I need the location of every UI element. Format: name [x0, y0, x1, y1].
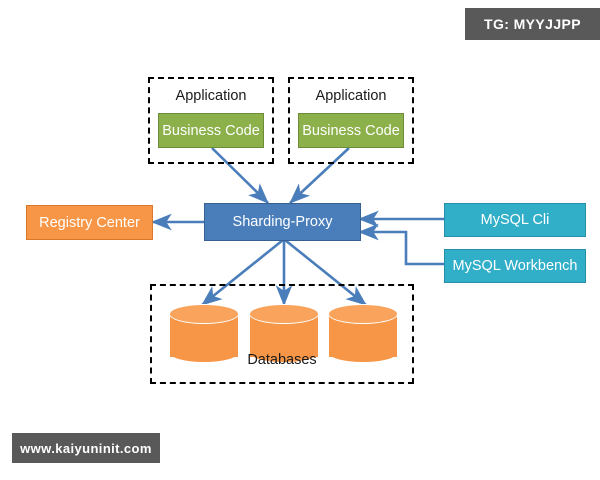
database-cylinder-1-top — [169, 304, 239, 324]
databases-group: Databases — [150, 284, 414, 384]
business-code-box-left[interactable]: Business Code — [158, 113, 264, 148]
application-group-left-title: Application — [150, 88, 272, 104]
database-cylinder-2-top — [249, 304, 319, 324]
site-watermark: www.kaiyuninit.com — [12, 433, 160, 463]
registry-center-box[interactable]: Registry Center — [26, 205, 153, 240]
databases-group-title: Databases — [152, 352, 412, 368]
arrow-mysqlworkbench-to-proxy — [359, 232, 446, 264]
sharding-proxy-box[interactable]: Sharding-Proxy — [204, 203, 361, 241]
mysql-workbench-box[interactable]: MySQL Workbench — [444, 249, 586, 283]
application-group-right: Application Business Code — [288, 77, 414, 164]
telegram-watermark: TG: MYYJJPP — [465, 8, 600, 40]
database-cylinder-3-top — [328, 304, 398, 324]
application-group-left: Application Business Code — [148, 77, 274, 164]
mysql-cli-box[interactable]: MySQL Cli — [444, 203, 586, 237]
application-group-right-title: Application — [290, 88, 412, 104]
architecture-diagram: Application Business Code Application Bu… — [0, 0, 600, 480]
business-code-box-right[interactable]: Business Code — [298, 113, 404, 148]
